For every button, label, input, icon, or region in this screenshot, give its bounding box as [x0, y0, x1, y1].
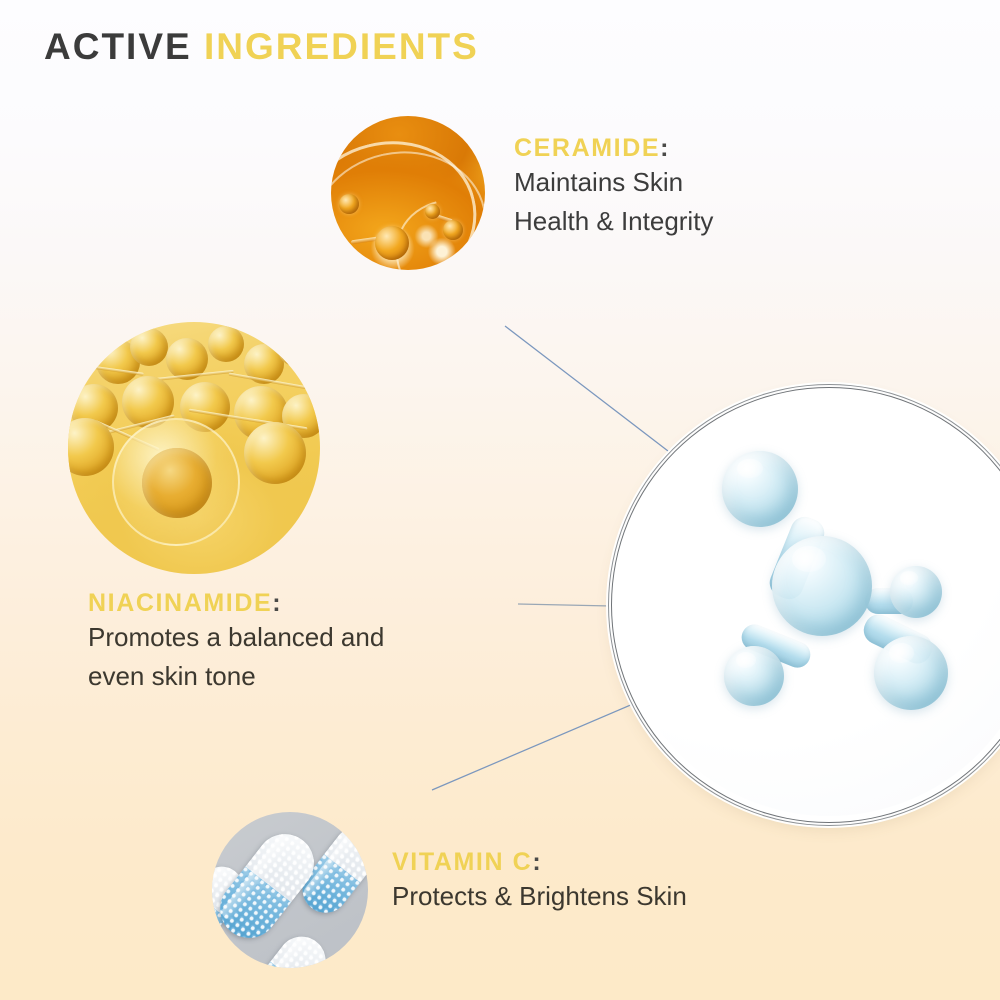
ingredient-description-niacinamide: Promotes a balanced and even skin tone — [88, 618, 384, 697]
connector-ceramide — [505, 326, 668, 451]
ingredient-block-niacinamide: NIACINAMIDE: Promotes a balanced and eve… — [88, 589, 384, 697]
ingredient-name-text: NIACINAMIDE — [88, 589, 272, 617]
infographic-canvas: ACTIVE INGREDIENTS — [0, 0, 1000, 1000]
ingredient-block-ceramide: CERAMIDE: Maintains Skin Health & Integr… — [514, 134, 713, 242]
molecule-central-atom-icon — [772, 536, 872, 636]
molecule-sphere-icon — [130, 328, 168, 366]
ingredient-name-colon: : — [660, 134, 668, 162]
connector-vitamin-c — [432, 701, 640, 790]
page-title-word-ingredients: INGREDIENTS — [204, 26, 479, 67]
molecule-atom-icon — [874, 636, 948, 710]
oil-bead-icon — [425, 204, 440, 219]
ingredient-name-ceramide: CERAMIDE: — [514, 134, 713, 163]
oil-bead-icon — [443, 220, 463, 240]
ingredient-name-colon: : — [532, 848, 540, 876]
ingredient-name-vitamin-c: VITAMIN C: — [392, 848, 687, 877]
molecule-core-sphere-icon — [142, 448, 212, 518]
ceramide-oil-macro-thumbnail — [331, 116, 485, 270]
ingredient-description-vitamin-c: Protects & Brightens Skin — [392, 877, 687, 917]
ingredient-block-vitamin-c: VITAMIN C: Protects & Brightens Skin — [392, 848, 687, 916]
page-title: ACTIVE INGREDIENTS — [44, 28, 479, 65]
ingredient-name-text: CERAMIDE — [514, 134, 660, 162]
molecule-sphere-icon — [278, 332, 312, 366]
page-title-word-active: ACTIVE — [44, 26, 192, 67]
vitamin-c-capsule-beads-thumbnail — [212, 812, 368, 968]
connector-niacinamide — [518, 604, 611, 606]
molecule-atom-icon — [722, 451, 798, 527]
molecule-atom-icon — [724, 646, 784, 706]
niacinamide-golden-molecule-thumbnail — [68, 322, 320, 574]
ingredient-name-colon: : — [272, 589, 280, 617]
molecule-sphere-icon — [244, 422, 306, 484]
ingredient-name-niacinamide: NIACINAMIDE: — [88, 589, 384, 618]
ingredient-description-ceramide: Maintains Skin Health & Integrity — [514, 163, 713, 242]
feature-molecule-circle — [612, 388, 1000, 822]
oil-bead-icon — [339, 194, 359, 214]
molecule-atom-icon — [890, 566, 942, 618]
oil-bead-icon — [375, 226, 409, 260]
molecule-sphere-icon — [208, 326, 244, 362]
ingredient-name-text: VITAMIN C — [392, 848, 532, 876]
